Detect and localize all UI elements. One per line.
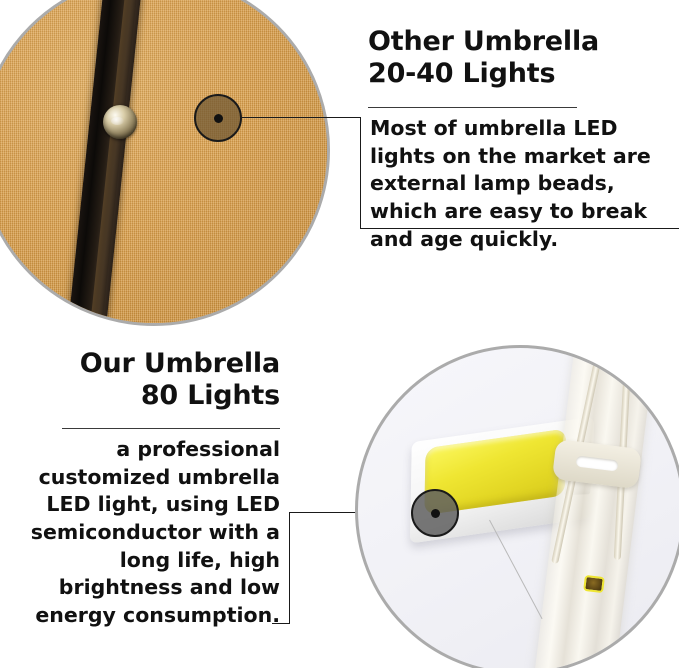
smd-led-callout-dot [411,489,459,537]
callout-connector-line-other [242,117,360,118]
our-led-photo-circle [355,345,679,668]
chrome-bolt-icon [103,105,137,139]
other-umbrella-body-text: Most of umbrella LED lights on the marke… [370,115,676,253]
other-umbrella-heading: Other Umbrella 20-40 Lights [368,26,668,89]
external-lamp-bead-callout-dot [194,94,242,142]
other-umbrella-heading-line1: Other Umbrella [368,26,668,58]
our-umbrella-heading: Our Umbrella 80 Lights [30,348,280,411]
callout-bracket-bottom-tick-ours [272,623,290,624]
other-umbrella-heading-line2: 20-40 Lights [368,58,668,90]
other-umbrella-heading-rule [368,107,577,108]
our-umbrella-heading-line2: 80 Lights [30,380,280,412]
led-strip-bead [583,575,605,593]
led-umbrella-comparison-infographic: Other Umbrella 20-40 Lights Most of umbr… [0,0,679,668]
our-umbrella-heading-rule [62,428,280,429]
umbrella-fabric-texture [0,0,327,323]
our-umbrella-body-text: a professional customized umbrella LED l… [24,436,280,630]
callout-bracket-vertical-ours [289,512,290,623]
callout-bracket-vertical-other [360,117,361,228]
other-umbrella-photo-circle [0,0,330,326]
our-umbrella-heading-line1: Our Umbrella [30,348,280,380]
